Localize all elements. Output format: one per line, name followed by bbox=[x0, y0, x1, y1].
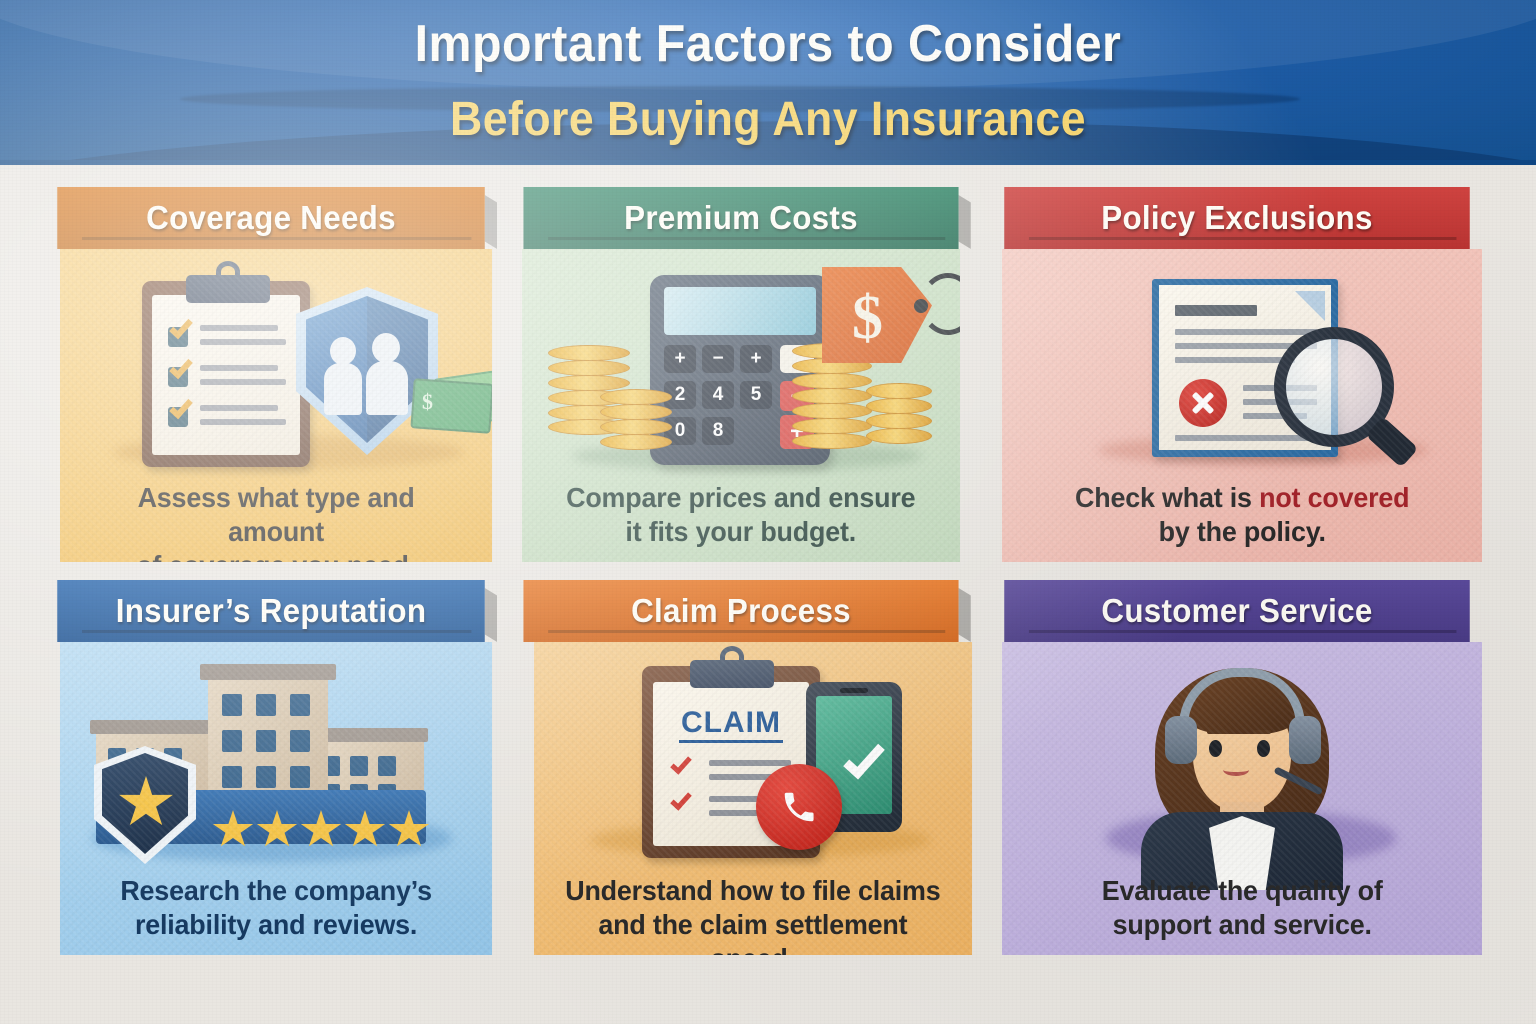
calculator-screen bbox=[664, 287, 816, 335]
window bbox=[256, 694, 276, 716]
eyebrow bbox=[1207, 730, 1225, 734]
coin bbox=[600, 389, 672, 405]
eye bbox=[1257, 740, 1270, 757]
eye bbox=[1209, 740, 1222, 757]
coin bbox=[600, 404, 672, 420]
card-claim-process[interactable]: Claim Process CLAIM bbox=[512, 580, 977, 955]
caption-line-1: Check what is not covered bbox=[1039, 481, 1445, 515]
card-policy-exclusions[interactable]: Policy Exclusions bbox=[992, 187, 1484, 562]
card-title-customer-service: Customer Service bbox=[1101, 592, 1372, 630]
caption-text-highlight: not covered bbox=[1259, 482, 1409, 513]
card-header-rule bbox=[1029, 237, 1457, 240]
card-customer-service[interactable]: Customer Service bbox=[992, 580, 1484, 955]
caption-text-normal: Check what is bbox=[1075, 482, 1259, 513]
coin bbox=[600, 434, 672, 450]
coin bbox=[792, 388, 872, 404]
coin bbox=[600, 419, 672, 435]
card-header-rule bbox=[82, 630, 472, 633]
caption-line-2: it fits your budget. bbox=[556, 515, 926, 549]
calculator-key[interactable]: 8 bbox=[702, 417, 734, 445]
window bbox=[290, 766, 310, 788]
window bbox=[290, 694, 310, 716]
illustration-claim-clipboard-phone-call: CLAIM bbox=[534, 642, 972, 880]
caption-line-2: by the policy. bbox=[1039, 515, 1445, 549]
card-title-coverage-needs: Coverage Needs bbox=[146, 199, 396, 237]
window bbox=[222, 766, 242, 788]
page-header-banner: Important Factors to Consider Before Buy… bbox=[0, 0, 1536, 165]
card-title-policy-exclusions: Policy Exclusions bbox=[1101, 199, 1372, 237]
window bbox=[378, 756, 396, 776]
figure-body bbox=[366, 361, 408, 415]
price-tag-string bbox=[920, 273, 960, 335]
list-line bbox=[200, 379, 286, 385]
card-caption-insurers-reputation: Research the company’s reliability and r… bbox=[94, 874, 459, 942]
card-coverage-needs[interactable]: Coverage Needs bbox=[46, 187, 506, 562]
banknote-dollar: $ bbox=[422, 389, 440, 411]
card-header-rule bbox=[548, 630, 945, 633]
search-icon bbox=[1274, 327, 1394, 447]
caption-line-1: Research the company’s bbox=[94, 874, 459, 908]
check-icon bbox=[843, 736, 885, 779]
coin bbox=[548, 345, 630, 361]
card-title-claim-process: Claim Process bbox=[631, 592, 851, 630]
card-header-tail bbox=[959, 195, 971, 249]
avatar bbox=[1127, 656, 1357, 874]
calculator-key[interactable]: − bbox=[702, 345, 734, 373]
coin bbox=[548, 360, 630, 376]
caption-line-2: reliability and reviews. bbox=[94, 908, 459, 942]
clipboard-icon bbox=[142, 281, 310, 467]
price-tag-dollar: $ bbox=[852, 283, 883, 354]
card-title-premium-costs: Premium Costs bbox=[624, 199, 858, 237]
card-body-premium-costs: + − + 2 4 5 − 0 8 + bbox=[522, 249, 960, 562]
claim-label-underline bbox=[679, 740, 783, 743]
coin bbox=[866, 398, 932, 414]
list-line bbox=[709, 760, 791, 766]
coin bbox=[792, 418, 872, 434]
headset-earcup-left bbox=[1165, 716, 1197, 764]
card-caption-premium-costs: Compare prices and ensure it fits your b… bbox=[556, 481, 926, 549]
caption-line-2: and the claim settlement speed. bbox=[555, 908, 950, 955]
card-caption-coverage-needs: Assess what type and amount of coverage … bbox=[94, 481, 459, 562]
calculator-key[interactable]: + bbox=[664, 345, 696, 373]
window bbox=[222, 694, 242, 716]
card-title-insurers-reputation: Insurer’s Reputation bbox=[116, 592, 427, 630]
figure-head bbox=[330, 337, 356, 365]
card-body-policy-exclusions: Check what is not covered by the policy. bbox=[1002, 249, 1482, 562]
phone-speaker bbox=[840, 688, 868, 693]
window bbox=[290, 730, 310, 752]
card-body-claim-process: CLAIM bbox=[534, 642, 972, 955]
figure-body bbox=[324, 363, 362, 415]
card-header-rule bbox=[548, 237, 945, 240]
document-fold bbox=[1295, 291, 1325, 321]
window bbox=[256, 730, 276, 752]
phone-call-icon bbox=[756, 764, 842, 850]
building-roof bbox=[90, 720, 216, 734]
card-caption-claim-process: Understand how to file claims and the cl… bbox=[555, 874, 950, 955]
list-line bbox=[200, 365, 278, 371]
coin-stack bbox=[866, 383, 932, 451]
coin bbox=[866, 428, 932, 444]
mouth bbox=[1223, 764, 1249, 776]
caption-line-1: Compare prices and ensure bbox=[556, 481, 926, 515]
caption-line-1: Understand how to file claims bbox=[555, 874, 950, 908]
figure-head bbox=[372, 333, 400, 363]
caption-line-1: Evaluate the quality of bbox=[1039, 874, 1445, 908]
coin-stack bbox=[600, 389, 672, 451]
illustration-calculator-coins-pricetag: + − + 2 4 5 − 0 8 + bbox=[522, 249, 960, 487]
card-header-tail bbox=[485, 195, 497, 249]
card-body-insurers-reputation: Research the company’s reliability and r… bbox=[60, 642, 492, 955]
card-header-rule bbox=[82, 237, 472, 240]
card-body-coverage-needs: $ Assess what type and amount of coverag… bbox=[60, 249, 492, 562]
illustration-clipboard-shield-money: $ bbox=[60, 249, 492, 487]
card-header-tail bbox=[485, 588, 497, 642]
card-header-customer-service: Customer Service bbox=[1004, 580, 1470, 642]
window bbox=[350, 756, 368, 776]
caption-line-1: Assess what type and amount bbox=[94, 481, 459, 549]
card-header-coverage-needs: Coverage Needs bbox=[57, 187, 485, 249]
card-header-premium-costs: Premium Costs bbox=[523, 187, 958, 249]
claim-label: CLAIM bbox=[681, 706, 781, 740]
factor-card-grid: Coverage Needs bbox=[0, 165, 1536, 1024]
building-roof bbox=[200, 664, 336, 680]
clipboard-ring bbox=[720, 646, 744, 668]
card-header-rule bbox=[1029, 630, 1457, 633]
card-header-insurers-reputation: Insurer’s Reputation bbox=[57, 580, 485, 642]
coin bbox=[866, 413, 932, 429]
calculator-key[interactable]: + bbox=[740, 345, 772, 373]
list-line bbox=[200, 339, 286, 345]
coin bbox=[792, 433, 872, 449]
card-premium-costs[interactable]: Premium Costs + − + 2 4 5 − 0 8 bbox=[512, 187, 977, 562]
coin bbox=[792, 403, 872, 419]
handset-glyph bbox=[780, 788, 818, 826]
headset-band bbox=[1179, 668, 1305, 726]
award-shield-icon bbox=[94, 746, 196, 864]
document-heading-line bbox=[1175, 305, 1257, 316]
list-line bbox=[200, 325, 278, 331]
caption-line-2: support and service. bbox=[1039, 908, 1445, 942]
card-header-tail bbox=[959, 588, 971, 642]
calculator-key[interactable]: 5 bbox=[740, 381, 772, 409]
list-line bbox=[200, 419, 286, 425]
card-header-policy-exclusions: Policy Exclusions bbox=[1004, 187, 1470, 249]
card-caption-policy-exclusions: Check what is not covered by the policy. bbox=[1039, 481, 1445, 549]
page-subtitle: Before Buying Any Insurance bbox=[54, 92, 1482, 147]
illustration-document-xmark-magnifier bbox=[1002, 249, 1482, 487]
caption-line-2: of coverage you need. bbox=[94, 549, 459, 562]
calculator-key[interactable]: 4 bbox=[702, 381, 734, 409]
close-icon bbox=[1179, 379, 1227, 427]
card-caption-customer-service: Evaluate the quality of support and serv… bbox=[1039, 874, 1445, 942]
coin bbox=[792, 373, 872, 389]
clipboard-ring bbox=[216, 261, 240, 283]
window bbox=[256, 766, 276, 788]
page-title: Important Factors to Consider bbox=[54, 14, 1482, 74]
coin bbox=[866, 383, 932, 399]
money-icon: $ bbox=[412, 371, 492, 437]
illustration-support-agent-headset bbox=[1002, 642, 1482, 880]
headset-earcup-right bbox=[1289, 716, 1321, 764]
list-line bbox=[200, 405, 278, 411]
eyebrow bbox=[1253, 730, 1271, 734]
card-header-claim-process: Claim Process bbox=[523, 580, 958, 642]
check-icon bbox=[670, 788, 692, 810]
card-body-customer-service: Evaluate the quality of support and serv… bbox=[1002, 642, 1482, 955]
card-insurers-reputation[interactable]: Insurer’s Reputation bbox=[46, 580, 506, 955]
window bbox=[222, 730, 242, 752]
illustration-office-building-shield-stars bbox=[60, 642, 492, 880]
check-icon bbox=[670, 752, 692, 774]
